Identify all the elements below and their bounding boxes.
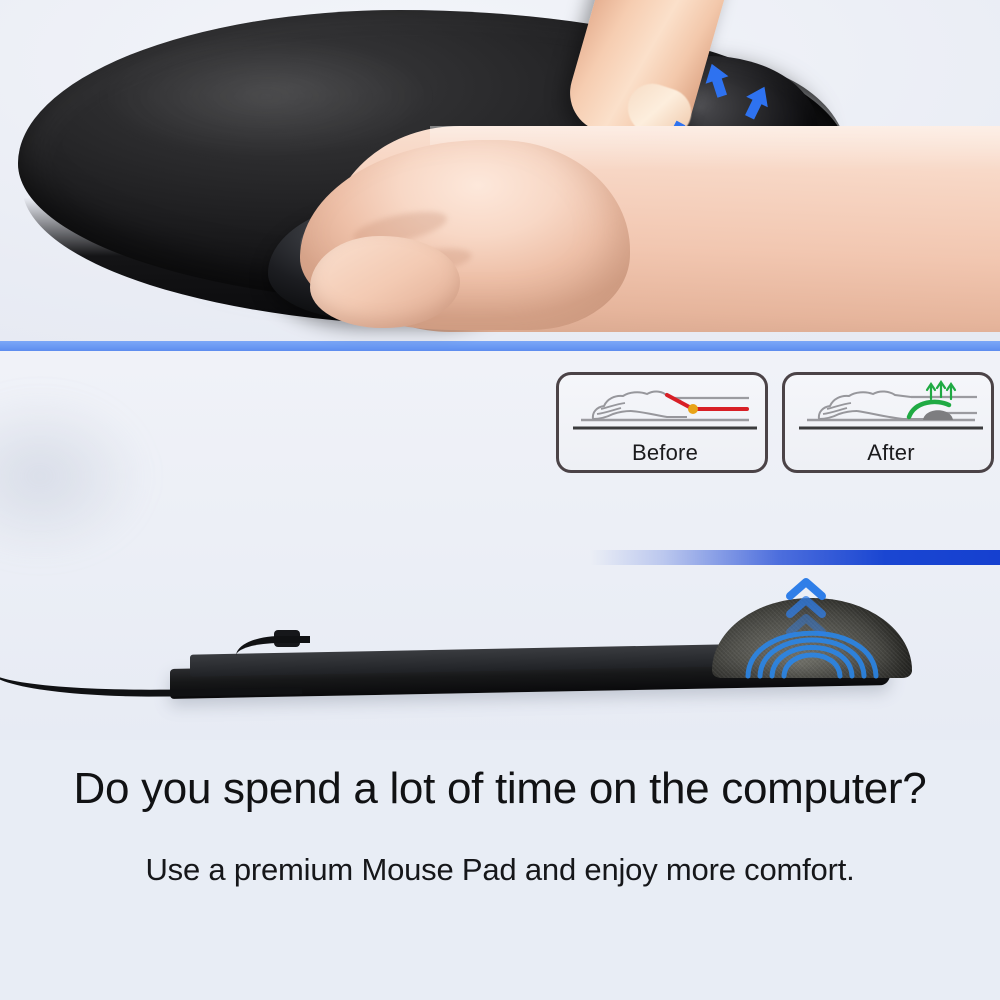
headline-text: Do you spend a lot of time on the comput…	[0, 764, 1000, 814]
subheadline-text: Use a premium Mouse Pad and enjoy more c…	[0, 852, 1000, 888]
background-glow	[0, 361, 190, 591]
thumb	[310, 236, 460, 328]
product-marketing-poster: Before	[0, 0, 1000, 1000]
press-arrow-up-left	[700, 60, 734, 100]
lift-chevrons-icon	[780, 576, 832, 638]
comparison-label-after: After	[785, 440, 997, 466]
comparison-card-before: Before	[556, 372, 768, 473]
press-arrow-up-right	[740, 82, 774, 122]
copy-panel: Do you spend a lot of time on the comput…	[0, 740, 1000, 1000]
before-posture-icon	[559, 379, 771, 437]
after-posture-icon	[785, 379, 997, 437]
comparison-card-after: After	[782, 372, 994, 473]
before-after-comparison: Before	[556, 372, 994, 473]
blue-divider-band	[0, 341, 1000, 351]
comparison-label-before: Before	[559, 440, 771, 466]
blue-alignment-streak	[590, 550, 1000, 565]
